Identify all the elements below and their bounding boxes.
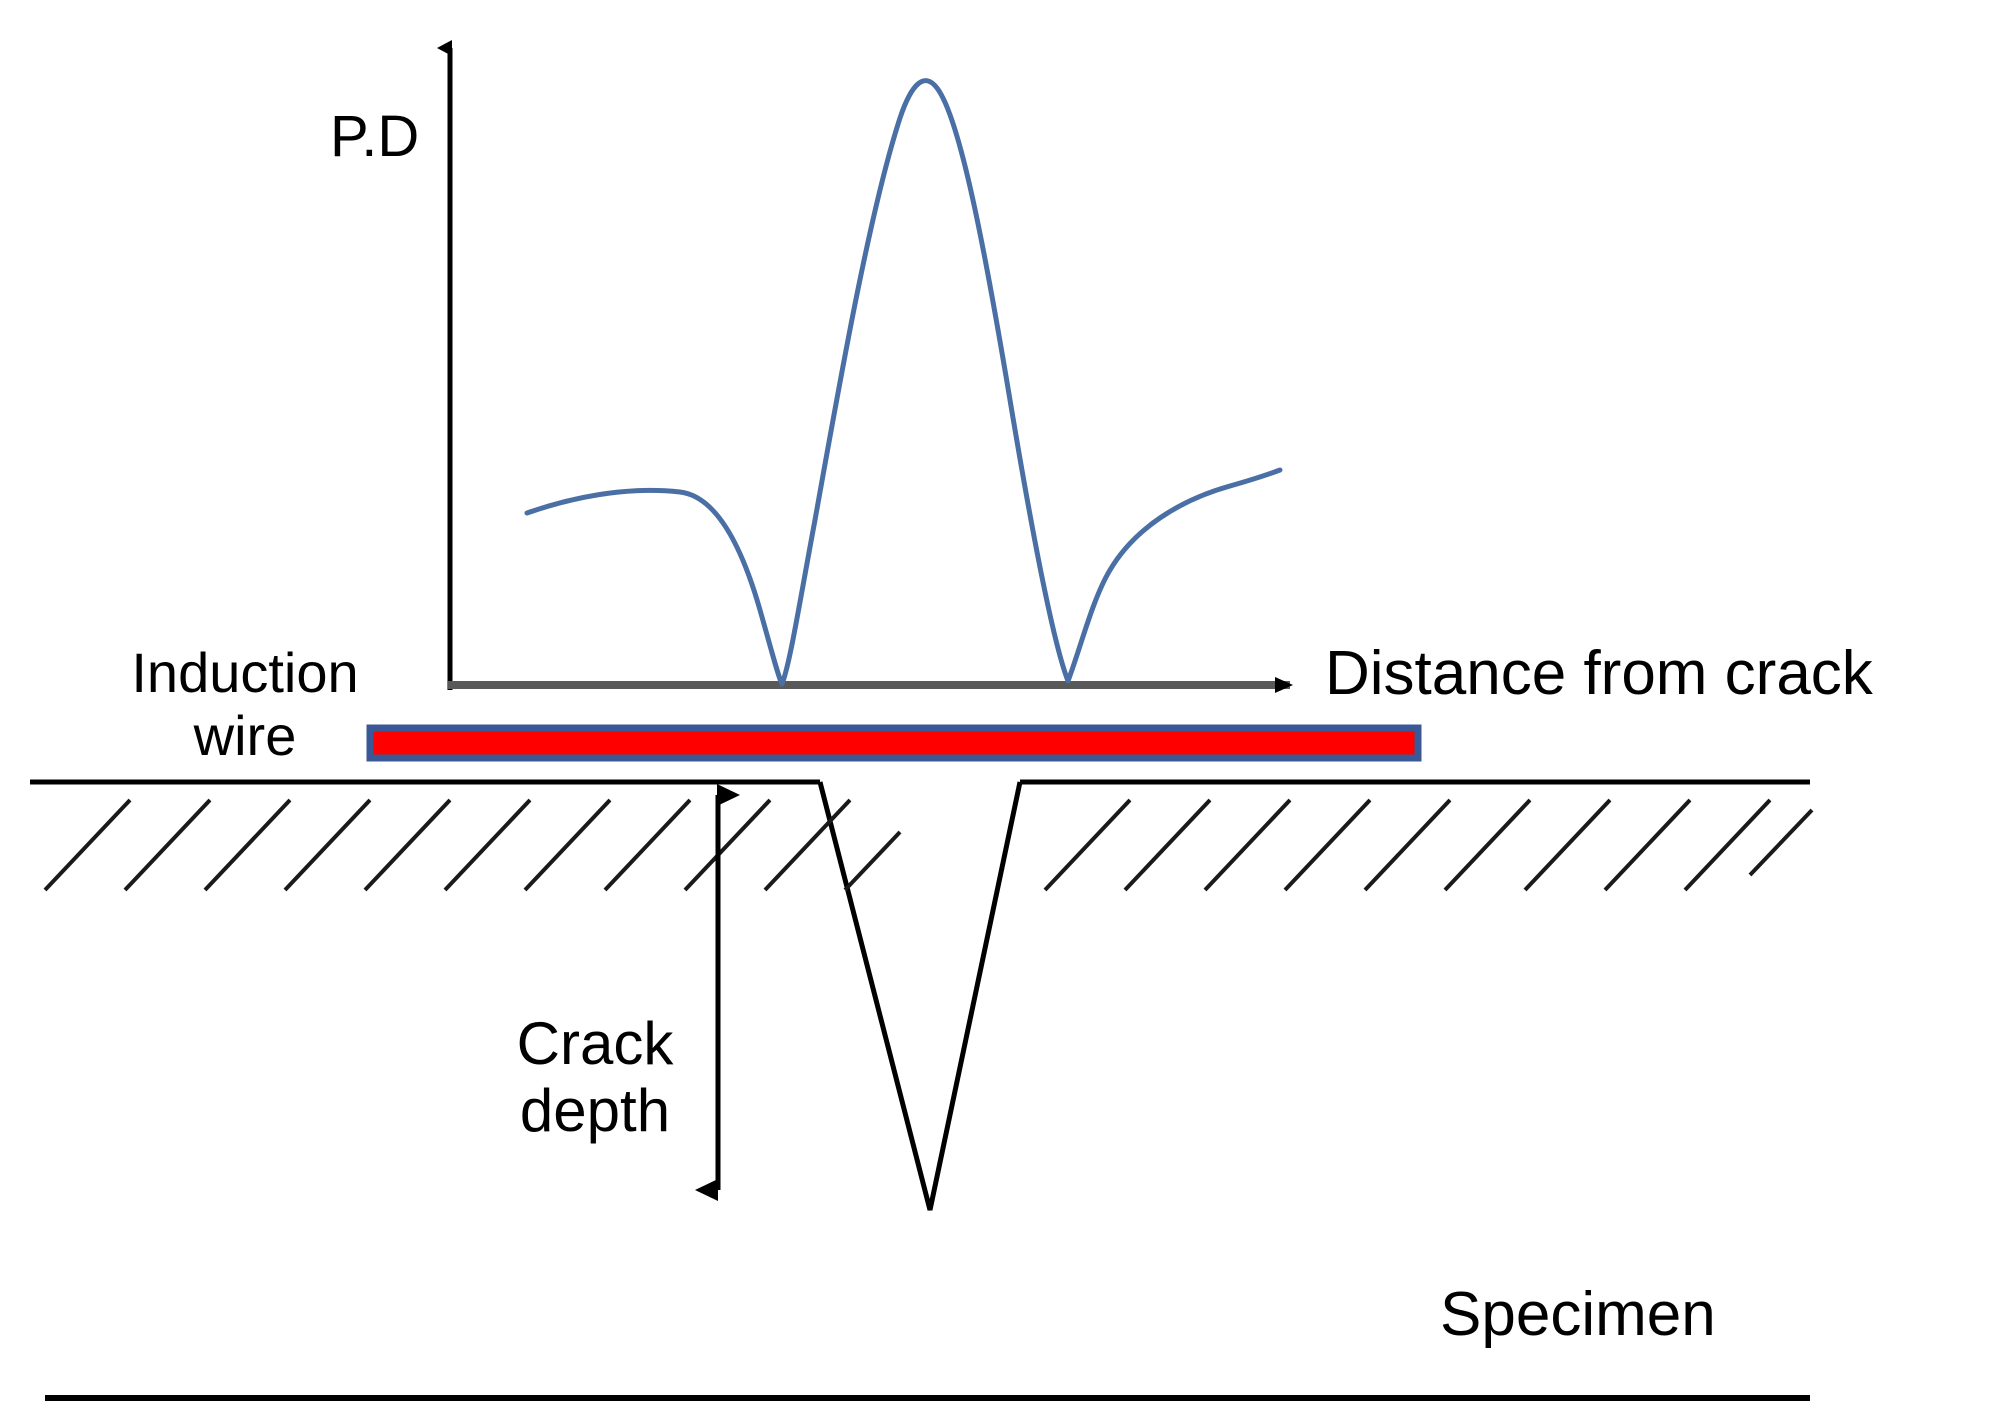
plot-area xyxy=(448,48,1290,690)
specimen-label: Specimen xyxy=(1440,1280,1716,1349)
induction-wire-label: Induction wire xyxy=(95,642,395,767)
diagram-root: P.D Distance from crack Induction wire C… xyxy=(0,0,2002,1419)
induction-wire-bar xyxy=(370,728,1418,758)
potential-drop-curve xyxy=(527,81,1280,684)
crack-notch xyxy=(820,782,1020,1210)
x-axis-label: Distance from crack xyxy=(1325,639,1873,708)
induction-wire xyxy=(370,728,1418,758)
y-axis-label: P.D xyxy=(330,105,419,170)
crack-depth-label: Crack depth xyxy=(490,1010,700,1144)
specimen-hatching xyxy=(45,800,1812,890)
